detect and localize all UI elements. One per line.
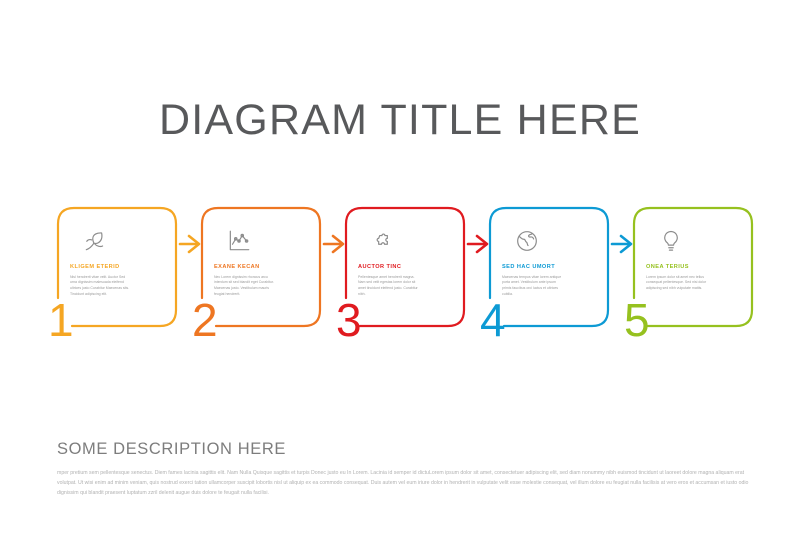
step-title: EXANE KECAN [214, 264, 302, 271]
description-block: SOME DESCRIPTION HERE mper pretium sem p… [57, 440, 749, 498]
step-body: Pellentesque amet hendrerit magna. Nam s… [358, 275, 420, 298]
process-step[interactable]: 1KLIGEM ETERIDNisl hendrerit vitae velit… [40, 200, 184, 355]
step-body: Nec Lorem dignissim rhoncus arcu interdu… [214, 275, 276, 298]
page-title: DIAGRAM TITLE HERE [0, 96, 800, 145]
step-body: Nisl hendrerit vitae velit. Auctor Sed u… [70, 275, 132, 298]
puzzle-icon [370, 228, 396, 254]
description-text: mper pretium sem pellentesque senectus. … [57, 468, 749, 498]
step-title: KLIGEM ETERID [70, 264, 158, 271]
step-number: 5 [624, 294, 650, 346]
process-diagram: 1KLIGEM ETERIDNisl hendrerit vitae velit… [40, 200, 760, 355]
step-content: ONEA TERIUSLorem ipsum dolor sit amet ne… [646, 228, 734, 292]
step-number: 2 [192, 294, 218, 346]
step-content: EXANE KECANNec Lorem dignissim rhoncus a… [214, 228, 302, 297]
description-title: SOME DESCRIPTION HERE [57, 440, 749, 459]
process-step[interactable]: 5ONEA TERIUSLorem ipsum dolor sit amet n… [616, 200, 760, 355]
step-content: KLIGEM ETERIDNisl hendrerit vitae velit.… [70, 228, 158, 297]
step-content: SED HAC UMORTMaecenas tempus vitae lorem… [502, 228, 590, 297]
step-title: SED HAC UMORT [502, 264, 590, 271]
step-number: 3 [336, 294, 362, 346]
step-number: 4 [480, 294, 506, 346]
globe-icon [514, 228, 540, 254]
step-number: 1 [48, 294, 74, 346]
step-body: Maecenas tempus vitae lorem antique port… [502, 275, 564, 298]
lightbulb-icon [658, 228, 684, 254]
leaf-icon [82, 228, 108, 254]
process-step[interactable]: 2EXANE KECANNec Lorem dignissim rhoncus … [184, 200, 328, 355]
line-chart-icon [226, 228, 252, 254]
step-content: AUCTOR TINCPellentesque amet hendrerit m… [358, 228, 446, 297]
step-body: Lorem ipsum dolor sit amet nec tellus co… [646, 275, 708, 292]
step-title: ONEA TERIUS [646, 264, 734, 271]
step-title: AUCTOR TINC [358, 264, 446, 271]
process-step[interactable]: 3AUCTOR TINCPellentesque amet hendrerit … [328, 200, 472, 355]
process-step[interactable]: 4SED HAC UMORTMaecenas tempus vitae lore… [472, 200, 616, 355]
